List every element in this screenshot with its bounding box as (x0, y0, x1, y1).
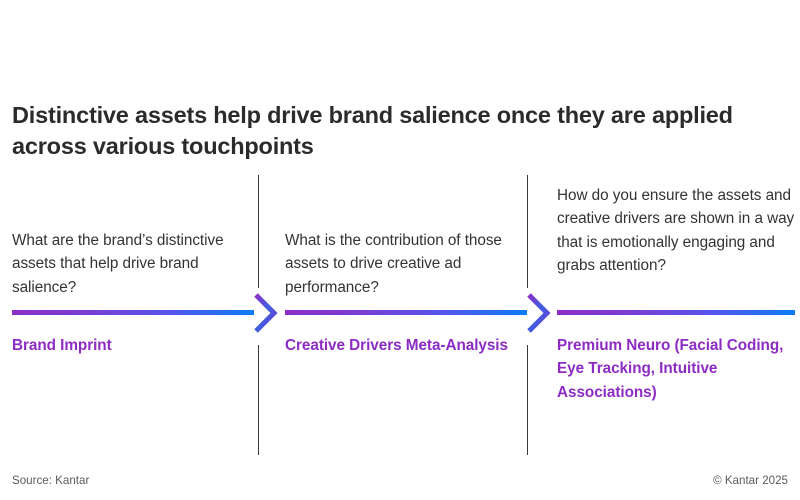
stage-question-3: How do you ensure the assets and creativ… (557, 184, 795, 277)
column-divider-2-lower (527, 345, 528, 455)
stage-label-1: Brand Imprint (12, 334, 112, 357)
stage-label-2: Creative Drivers Meta-Analysis (285, 334, 508, 357)
arrow-segment-1 (12, 310, 254, 315)
chevron-right-icon (526, 293, 552, 333)
stage-question-2: What is the contribution of those assets… (285, 229, 517, 299)
stage-label-3: Premium Neuro (Facial Coding, Eye Tracki… (557, 334, 795, 404)
column-divider-1-lower (258, 345, 259, 455)
arrow-segment-2 (285, 310, 527, 315)
page-title: Distinctive assets help drive brand sali… (12, 100, 752, 163)
column-divider-2-upper (527, 175, 528, 288)
copyright-note: © Kantar 2025 (713, 474, 788, 487)
process-arrow (0, 296, 800, 330)
column-divider-1-upper (258, 175, 259, 288)
slide-canvas: Distinctive assets help drive brand sali… (0, 0, 800, 500)
arrow-segment-3 (557, 310, 795, 315)
source-note: Source: Kantar (12, 474, 89, 487)
chevron-right-icon (253, 293, 279, 333)
stage-question-1: What are the brand’s distinctive assets … (12, 229, 244, 299)
